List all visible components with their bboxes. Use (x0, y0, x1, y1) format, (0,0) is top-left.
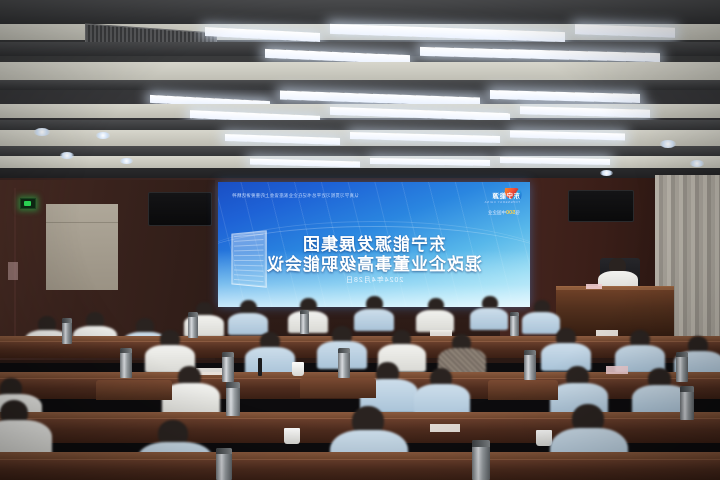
thermos-flask (676, 352, 688, 382)
wall-acoustic-panel (46, 204, 118, 290)
thermos-flask (472, 440, 490, 480)
thermos-flask (524, 350, 536, 380)
screen-subtitle-text: 认真学习贯彻习近平总书记在企业家座谈会上的重要讲话精神 (232, 193, 359, 199)
thermos-flask (680, 386, 694, 420)
attendee-body (470, 308, 508, 330)
logo-name-cn: 东宁能源 (484, 190, 520, 200)
thermos-flask (120, 348, 132, 378)
screen-subtitle: 认真学习贯彻习近平总书记在企业家座谈会上的重要讲话精神 (232, 193, 359, 199)
thermos-flask (188, 312, 198, 338)
ceiling-downlight (660, 140, 676, 148)
attendee-body (522, 312, 560, 334)
screen-date: 2024年4月28日 (218, 275, 530, 285)
desk-document (606, 366, 628, 374)
ceiling-beam (0, 80, 720, 90)
rostrum (556, 288, 674, 336)
attendee-body (228, 313, 268, 335)
logo-name-en: TOPENERGY CHINA (484, 200, 520, 204)
thermos-flask (62, 318, 72, 344)
desk-document (596, 330, 618, 336)
ceiling (0, 0, 720, 190)
desk (0, 459, 720, 480)
presenter-document (586, 284, 602, 289)
thermos-flask (222, 352, 234, 382)
ceiling-beam (0, 0, 720, 26)
ceiling-downlight (600, 170, 613, 176)
attendee-body (354, 309, 394, 331)
chair-back (300, 378, 376, 398)
ceiling-beam (0, 62, 720, 82)
desk-document (430, 424, 460, 432)
wall-speaker-right (568, 190, 634, 222)
ceiling-downlight (34, 128, 50, 136)
thermos-flask (216, 448, 232, 480)
thermos-flask (226, 382, 240, 416)
chair-back (96, 380, 172, 400)
ceiling-downlight (690, 160, 704, 167)
ceiling-downlight (60, 152, 74, 159)
ceiling-downlight (120, 158, 133, 164)
thermos-flask (338, 348, 350, 378)
thermos-flask (300, 310, 309, 334)
screen-logo: 东宁能源 TOPENERGY CHINA 强500中国企业 (484, 190, 520, 216)
conference-room-photo: 认真学习贯彻习近平总书记在企业家座谈会上的重要讲话精神 东宁能源 TOPENER… (0, 0, 720, 480)
exit-sign-icon (20, 198, 36, 209)
screen-title-line2: 混改企业董事高级职能会议 (218, 250, 530, 275)
wall-panel-seam (46, 222, 118, 223)
logo-award: 强500中国企业 (484, 210, 520, 216)
ceiling-beam (0, 156, 720, 168)
presentation-screen: 认真学习贯彻习近平总书记在企业家座谈会上的重要讲话精神 东宁能源 TOPENER… (218, 182, 530, 307)
attendee-body (245, 347, 295, 375)
wall-plaque (8, 262, 18, 280)
drinking-cup (292, 362, 304, 376)
desk-microphone (258, 358, 262, 376)
attendee-body (416, 310, 454, 332)
ceiling-light-panel (490, 90, 640, 103)
chair-back (488, 380, 558, 400)
drinking-cup (284, 428, 300, 444)
desk-document (430, 330, 452, 336)
ceiling-downlight (96, 132, 110, 139)
wall-speaker-left (148, 192, 212, 226)
thermos-flask (510, 312, 519, 336)
